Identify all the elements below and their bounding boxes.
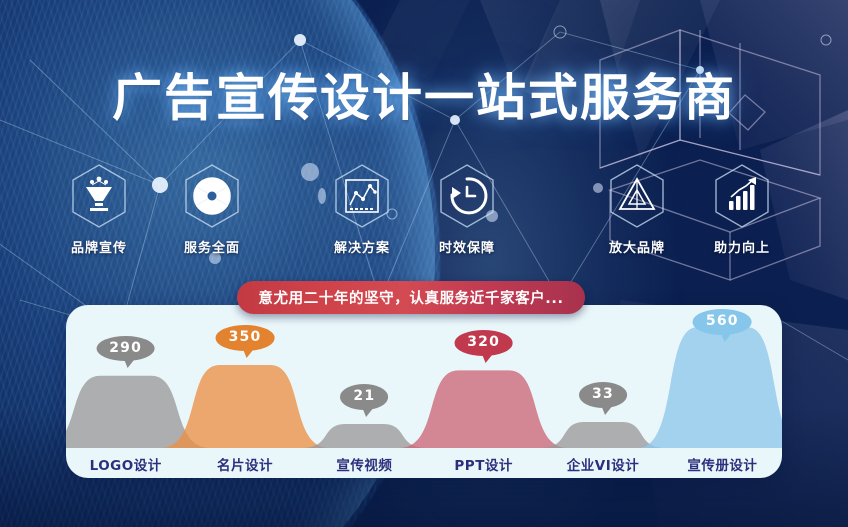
poster-stage: 广告宣传设计一站式服务商 品牌宣传 [0,0,848,527]
hill-5 [540,422,665,448]
value-bubble: 320 [454,330,513,356]
value-bubble: 350 [216,325,275,351]
value-bubble-tail [720,332,732,342]
value-bubble: 33 [579,382,627,408]
value-bubble: 290 [96,336,155,362]
feature-item-brand-promotion[interactable]: 品牌宣传 [60,163,138,256]
feature-item-full-service[interactable]: 服务全面 [173,163,251,256]
hill-3 [302,424,427,448]
feature-label: 服务全面 [173,237,251,256]
clock-history-icon [437,163,497,229]
bar-growth-icon [712,163,772,229]
category-label: LOGO设计 [90,454,162,474]
hill-4 [399,370,568,448]
feature-label: 助力向上 [703,237,781,256]
hill-6 [638,327,782,448]
trophy-badge-icon [69,163,129,229]
chart-card: 2903502132033560 LOGO设计名片设计宣传视频PPT设计企业VI… [66,305,782,478]
feature-item-growth-support[interactable]: 助力向上 [703,163,781,256]
value-bubble-tail [243,348,255,358]
chart-analysis-icon [332,163,392,229]
value-bubble-tail [601,405,613,415]
feature-item-timeliness[interactable]: 时效保障 [428,163,506,256]
triangle-pyramid-icon [607,163,667,229]
feature-label: 解决方案 [323,237,401,256]
category-label: PPT设计 [454,454,513,474]
feature-item-amplify-brand[interactable]: 放大品牌 [598,163,676,256]
page-title: 广告宣传设计一站式服务商 [0,58,848,130]
category-label-row: LOGO设计名片设计宣传视频PPT设计企业VI设计宣传册设计 [66,448,782,478]
feature-label: 时效保障 [428,237,506,256]
feature-label: 品牌宣传 [60,237,138,256]
feature-label: 放大品牌 [598,237,676,256]
value-bubble-tail [362,407,374,417]
hill-2 [160,365,329,448]
category-label: 名片设计 [217,454,273,474]
value-bubble-tail [482,353,494,363]
feature-item-solutions[interactable]: 解决方案 [323,163,401,256]
aperture-icon [182,163,242,229]
category-label: 宣传册设计 [687,454,757,474]
value-bubble: 21 [340,384,388,410]
category-label: 企业VI设计 [567,454,639,474]
promo-banner[interactable]: 意尤用二十年的坚守，认真服务近千家客户... [237,281,585,314]
value-bubble-tail [124,358,136,368]
category-label: 宣传视频 [336,454,392,474]
value-bubble: 560 [693,309,752,335]
promo-banner-text: 意尤用二十年的坚守，认真服务近千家客户... [258,287,563,308]
